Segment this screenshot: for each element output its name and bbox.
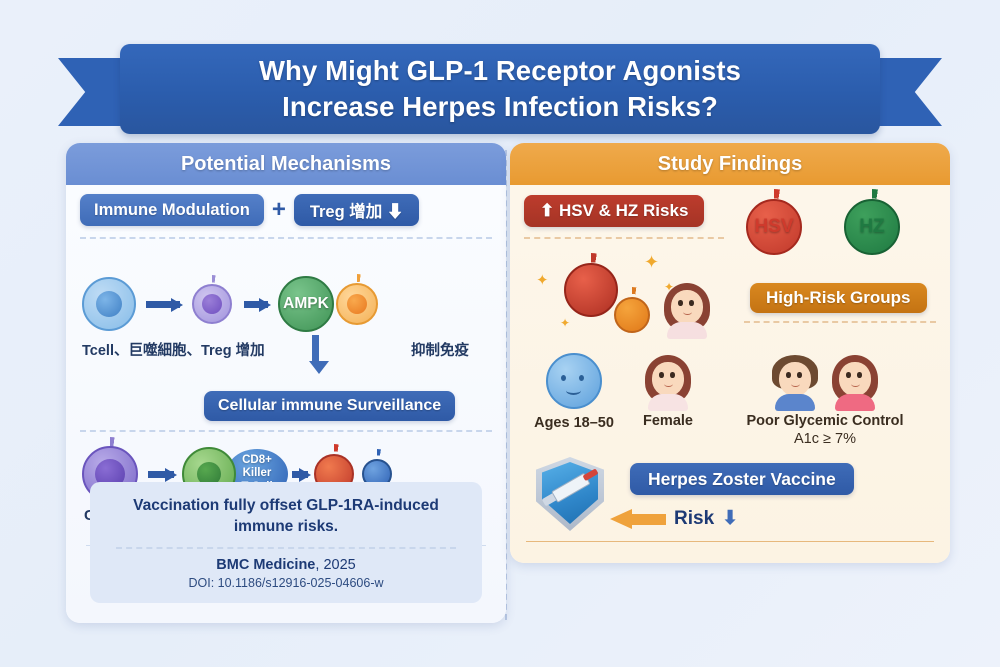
high-risk-label: Female (622, 413, 714, 429)
citation-box: Vaccination fully offset GLP-1RA-induced… (90, 482, 482, 603)
female-avatar (641, 353, 695, 411)
high-risk-groups-badge[interactable]: High-Risk Groups (750, 283, 927, 313)
left-panel-body: Immune Modulation + Treg 增加 ⬇ (66, 185, 506, 623)
hsv-hz-risks-badge[interactable]: ⬆ HSV & HZ Risks (524, 195, 704, 227)
divider-r3 (526, 541, 934, 542)
high-risk-sublabel: A1c ≥ 7% (714, 431, 936, 447)
cell-caption-right: 抑制免疫 (332, 339, 492, 360)
high-risk-items: Ages 18–50 Female (526, 353, 936, 447)
citation-journal-line: BMC Medicine, 2025 (106, 557, 466, 573)
right-panel-body: ⬆ HSV & HZ Risks HSV HZ ✦ ✦ ✦ (510, 185, 950, 563)
hz-virus-icon: HZ (844, 199, 900, 255)
virus-cluster-illustration: ✦ ✦ ✦ ✦ (532, 247, 732, 343)
immune-modulation-badge[interactable]: Immune Modulation (80, 194, 264, 226)
study-findings-panel: Study Findings ⬆ HSV & HZ Risks HSV HZ (510, 143, 950, 563)
title-line-1: Why Might GLP-1 Receptor Agonists (259, 53, 741, 89)
sparkle-icon: ✦ (536, 273, 549, 288)
mechanism-badge-row: Immune Modulation + Treg 增加 ⬇ (80, 193, 492, 227)
treg-increase-badge[interactable]: Treg 增加 ⬇ (294, 194, 420, 226)
virus-icon-group: HSV HZ (746, 199, 900, 255)
orange-left-arrow-icon (610, 509, 666, 529)
hsv-virus-icon: HSV (746, 199, 802, 255)
citation-year: 2025 (323, 557, 355, 573)
risk-down-arrow-icon: ⬇ (722, 507, 738, 530)
cell-caption-left: Tcell、巨噬細胞、Treg 增加 (82, 339, 332, 360)
macrophage-icon (192, 284, 232, 324)
female-avatar (660, 281, 714, 339)
title-ribbon: Why Might GLP-1 Receptor Agonists Increa… (0, 44, 1000, 140)
sparkle-icon: ✦ (644, 253, 659, 271)
right-panel-header: Study Findings (510, 143, 950, 185)
high-risk-label: Ages 18–50 (526, 415, 622, 431)
cellular-surveillance-badge[interactable]: Cellular immune Surveillance (204, 391, 455, 421)
citation-lead: Vaccination fully offset GLP-1RA-induced… (106, 496, 466, 538)
high-risk-label: Poor Glycemic Control (714, 413, 936, 429)
couple-avatar (714, 353, 936, 411)
high-risk-item: Female (622, 353, 714, 429)
down-arrow-icon (312, 335, 319, 361)
shield-syringe-icon (536, 457, 604, 531)
suppressed-cell-icon (336, 283, 378, 325)
title-line-2: Increase Herpes Infection Risks? (259, 89, 741, 125)
ampk-label: AMPK (283, 295, 329, 313)
divider-r2 (744, 321, 936, 323)
hsv-label: HSV (754, 216, 793, 238)
plus-icon: + (272, 198, 286, 222)
male-avatar (768, 353, 822, 411)
arrow-3-icon (148, 471, 174, 478)
citation-doi: DOI: 10.1186/s12916-025-04606-w (106, 576, 466, 590)
title-banner: Why Might GLP-1 Receptor Agonists Increa… (120, 44, 880, 134)
citation-divider (116, 547, 456, 549)
potential-mechanisms-panel: Potential Mechanisms Immune Modulation +… (66, 143, 506, 623)
page-title: Why Might GLP-1 Receptor Agonists Increa… (259, 53, 741, 126)
citation-journal: BMC Medicine (216, 557, 315, 573)
divider-2 (80, 430, 492, 432)
mechanism-captions: Tcell、巨噬細胞、Treg 增加 抑制免疫 (82, 337, 492, 361)
divider-1 (80, 237, 492, 239)
hz-label: HZ (859, 216, 884, 238)
left-panel-header: Potential Mechanisms (66, 143, 506, 185)
divider-r1 (524, 237, 724, 239)
globe-icon (546, 353, 602, 409)
arrow-1-icon (146, 301, 180, 308)
arrow-2-icon (244, 301, 268, 308)
infographic-canvas: Why Might GLP-1 Receptor Agonists Increa… (0, 0, 1000, 667)
herpes-zoster-vaccine-badge[interactable]: Herpes Zoster Vaccine (630, 463, 854, 495)
risk-label: Risk (674, 508, 714, 530)
small-orange-virus-icon (614, 297, 650, 333)
risk-reduction-group: Risk ⬇ (610, 507, 738, 530)
high-risk-item: Poor Glycemic Control A1c ≥ 7% (714, 353, 936, 447)
t-cell-icon (82, 277, 136, 331)
female-avatar (828, 353, 882, 411)
mechanism-cell-chain: AMPK (82, 273, 492, 335)
high-risk-item: Ages 18–50 (526, 353, 622, 431)
ampk-cell-icon: AMPK (278, 276, 334, 332)
